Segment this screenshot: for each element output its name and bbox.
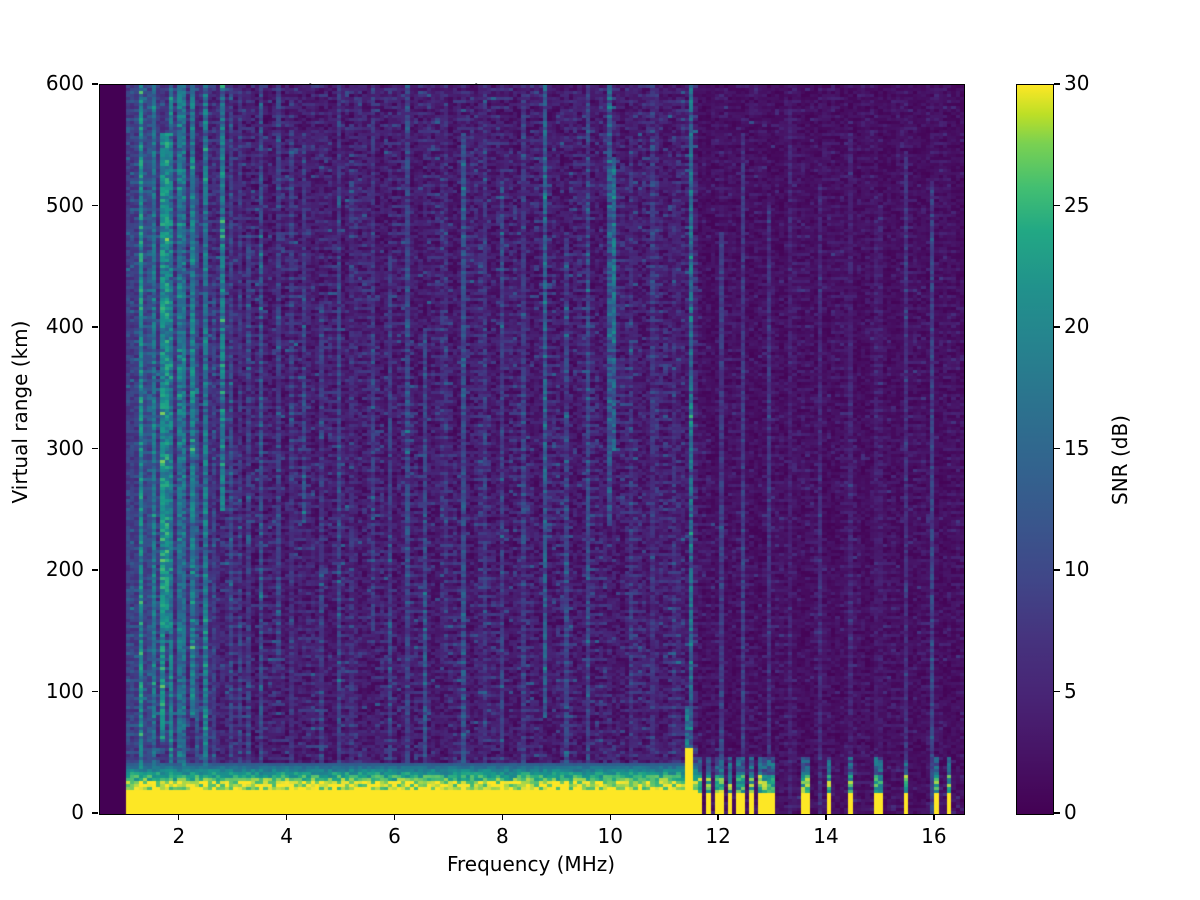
ionogram-figure: IRF Uppsala SDR Ionosonde UP158 2025-11-…	[0, 0, 1200, 900]
x-tick-mark	[502, 814, 503, 820]
y-tick-label: 400	[46, 316, 84, 336]
colorbar-tick-mark	[1054, 326, 1060, 327]
y-axis-label: Virtual range (km)	[8, 112, 32, 712]
colorbar-tick-mark	[1054, 83, 1060, 84]
y-tick-mark	[92, 83, 98, 84]
x-tick-mark	[717, 814, 718, 820]
colorbar-tick-mark	[1054, 448, 1060, 449]
y-tick-label: 0	[71, 802, 84, 822]
colorbar-tick-label: 15	[1064, 438, 1089, 458]
colorbar-label: SNR (dB)	[1108, 260, 1132, 660]
ionogram-heatmap	[100, 85, 964, 814]
colorbar-tick-mark	[1054, 569, 1060, 570]
x-tick-label: 10	[580, 824, 640, 848]
x-tick-label: 16	[904, 824, 964, 848]
y-tick-label: 300	[46, 438, 84, 458]
x-tick-label: 8	[472, 824, 532, 848]
colorbar-tick-label: 30	[1064, 73, 1089, 93]
x-tick-label: 2	[149, 824, 209, 848]
colorbar-tick-label: 5	[1064, 681, 1077, 701]
x-tick-mark	[286, 814, 287, 820]
x-tick-mark	[394, 814, 395, 820]
y-tick-label: 100	[46, 681, 84, 701]
x-tick-mark	[933, 814, 934, 820]
plot-area	[99, 84, 965, 815]
y-tick-mark	[92, 205, 98, 206]
x-tick-mark	[610, 814, 611, 820]
y-tick-mark	[92, 812, 98, 813]
y-tick-label: 500	[46, 195, 84, 215]
colorbar-tick-label: 10	[1064, 559, 1089, 579]
x-tick-mark	[178, 814, 179, 820]
y-tick-label: 200	[46, 559, 84, 579]
colorbar-tick-label: 0	[1064, 802, 1077, 822]
y-tick-mark	[92, 448, 98, 449]
x-tick-label: 6	[365, 824, 425, 848]
colorbar-tick-mark	[1054, 691, 1060, 692]
y-tick-mark	[92, 691, 98, 692]
x-tick-label: 14	[796, 824, 856, 848]
x-tick-label: 4	[257, 824, 317, 848]
colorbar-tick-mark	[1054, 205, 1060, 206]
y-tick-label: 600	[46, 73, 84, 93]
x-axis-label: Frequency (MHz)	[99, 852, 963, 876]
colorbar-tick-label: 20	[1064, 316, 1089, 336]
colorbar-tick-mark	[1054, 812, 1060, 813]
y-tick-mark	[92, 569, 98, 570]
colorbar	[1016, 84, 1054, 815]
x-tick-label: 12	[688, 824, 748, 848]
y-tick-mark	[92, 326, 98, 327]
colorbar-tick-label: 25	[1064, 195, 1089, 215]
x-tick-mark	[825, 814, 826, 820]
